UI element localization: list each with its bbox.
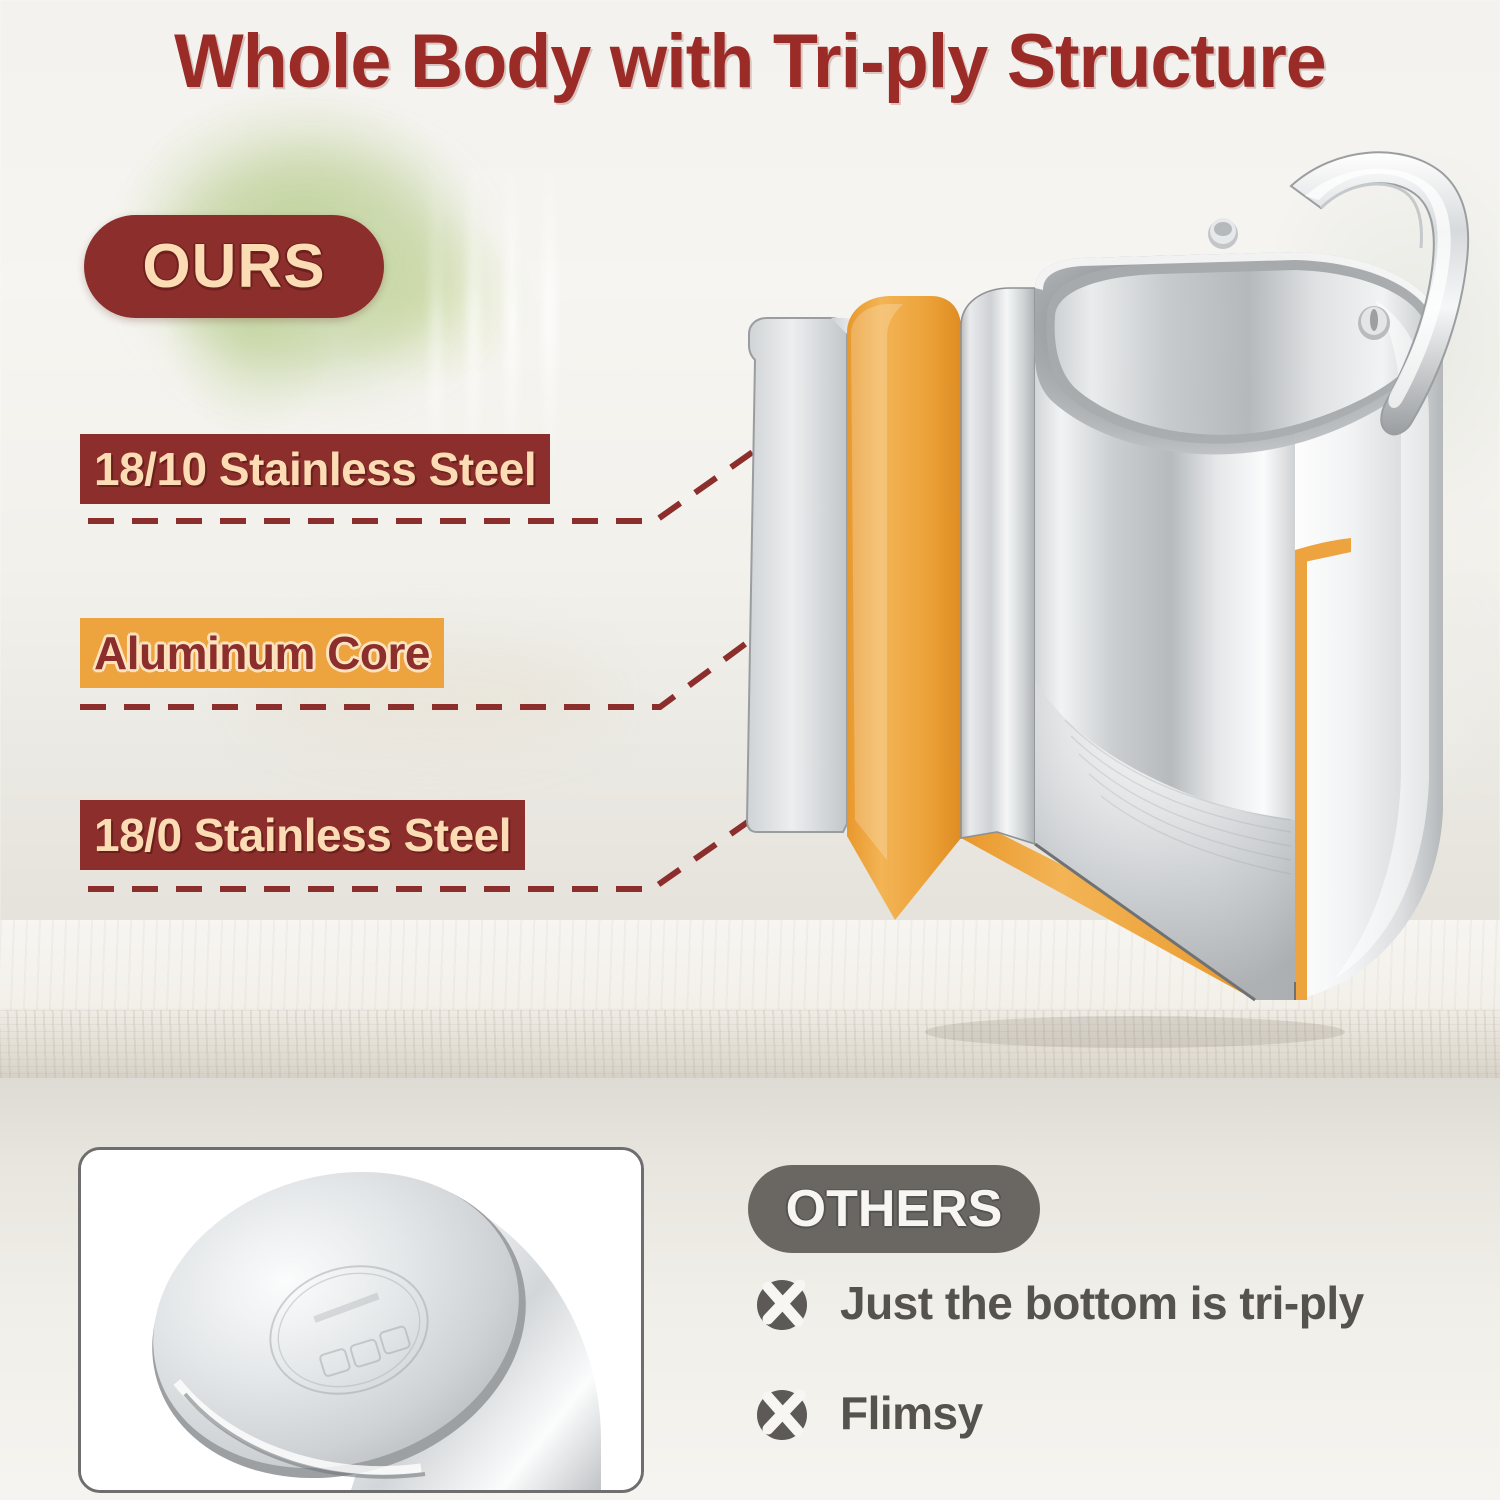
x-circle-icon [752, 1382, 814, 1444]
layer-label-18-10: 18/10 Stainless Steel [80, 434, 550, 504]
others-badge: OTHERS [748, 1165, 1040, 1253]
layer-label-18-0: 18/0 Stainless Steel [80, 800, 525, 870]
others-badge-label: OTHERS [748, 1165, 1040, 1253]
pot-bottom-photo-card [78, 1147, 644, 1493]
others-item-label: Flimsy [840, 1386, 983, 1440]
others-item-1: Flimsy [752, 1382, 983, 1444]
rivet [1208, 218, 1238, 249]
layer-label-text: Aluminum Core [94, 626, 430, 680]
pot-cutaway-illustration [735, 120, 1475, 1050]
layer-label-aluminum-core: Aluminum Core [80, 618, 444, 688]
others-item-label: Just the bottom is tri-ply [840, 1276, 1364, 1330]
infographic-root: Whole Body with Tri-ply Structure OURS 1… [0, 0, 1500, 1500]
rivet [1358, 306, 1390, 340]
layer-label-text: 18/0 Stainless Steel [94, 808, 511, 862]
x-circle-icon [752, 1272, 814, 1334]
others-item-0: Just the bottom is tri-ply [752, 1272, 1364, 1334]
layer-label-text: 18/10 Stainless Steel [94, 442, 536, 496]
